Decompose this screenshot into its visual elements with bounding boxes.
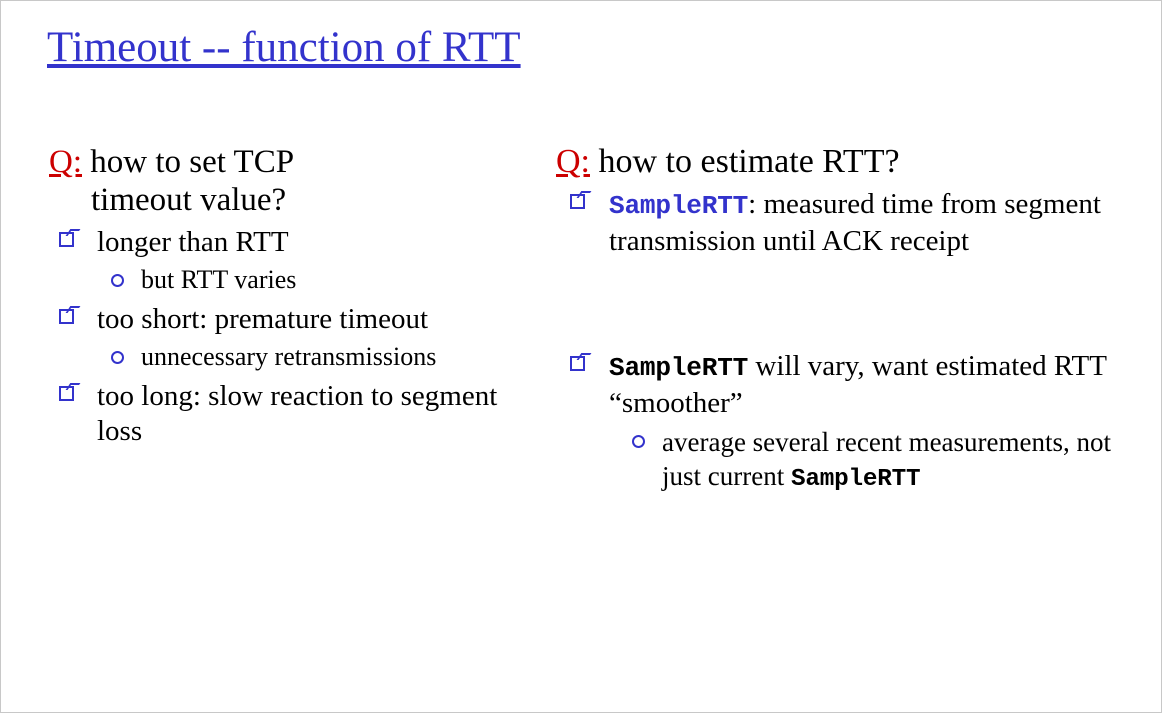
right-question: Q: how to estimate RTT? [556, 143, 1131, 181]
vertical-spacer [556, 259, 1131, 343]
circle-bullet-icon [111, 274, 124, 287]
square-bullet-icon [59, 232, 74, 247]
list-item-label: but RTT varies [141, 265, 296, 294]
left-column: Q: how to set TCP timeout value? longer … [49, 143, 539, 449]
list-item-label: unnecessary retransmissions [141, 342, 436, 371]
code-sample-rtt: SampleRTT [609, 353, 748, 383]
left-question-prefix: Q: [49, 144, 82, 180]
code-sample-rtt: SampleRTT [791, 466, 920, 493]
list-item: unnecessary retransmissions [49, 341, 539, 373]
circle-bullet-icon [632, 435, 645, 448]
square-bullet-icon [59, 309, 74, 324]
list-item: but RTT varies [49, 264, 539, 296]
list-item-label: too short: premature timeout [97, 303, 428, 335]
list-item: too long: slow reaction to segment loss [49, 379, 539, 449]
list-item: SampleRTT: measured time from segment tr… [556, 187, 1131, 259]
right-question-prefix: Q: [556, 143, 590, 180]
left-question-line1: how to set TCP [82, 144, 294, 180]
square-bullet-icon [59, 386, 74, 401]
list-item: longer than RTT [49, 225, 539, 260]
list-item: too short: premature timeout [49, 302, 539, 337]
list-item-label: too long: slow reaction to segment loss [97, 380, 497, 447]
right-column: Q: how to estimate RTT? SampleRTT: measu… [556, 143, 1131, 497]
square-bullet-icon [570, 356, 585, 371]
list-item: average several recent measurements, not… [556, 425, 1131, 497]
circle-bullet-icon [111, 351, 124, 364]
left-question: Q: how to set TCP timeout value? [49, 143, 539, 219]
right-question-label: how to estimate RTT? [590, 143, 900, 180]
left-question-line2: timeout value? [53, 181, 539, 219]
list-item: SampleRTT will vary, want estimated RTT … [556, 349, 1131, 421]
page-title: Timeout -- function of RTT [47, 23, 521, 72]
code-sample-rtt: SampleRTT [609, 191, 748, 221]
slide: Timeout -- function of RTT Q: how to set… [0, 0, 1162, 713]
list-item-label: longer than RTT [97, 226, 289, 258]
square-bullet-icon [570, 194, 585, 209]
